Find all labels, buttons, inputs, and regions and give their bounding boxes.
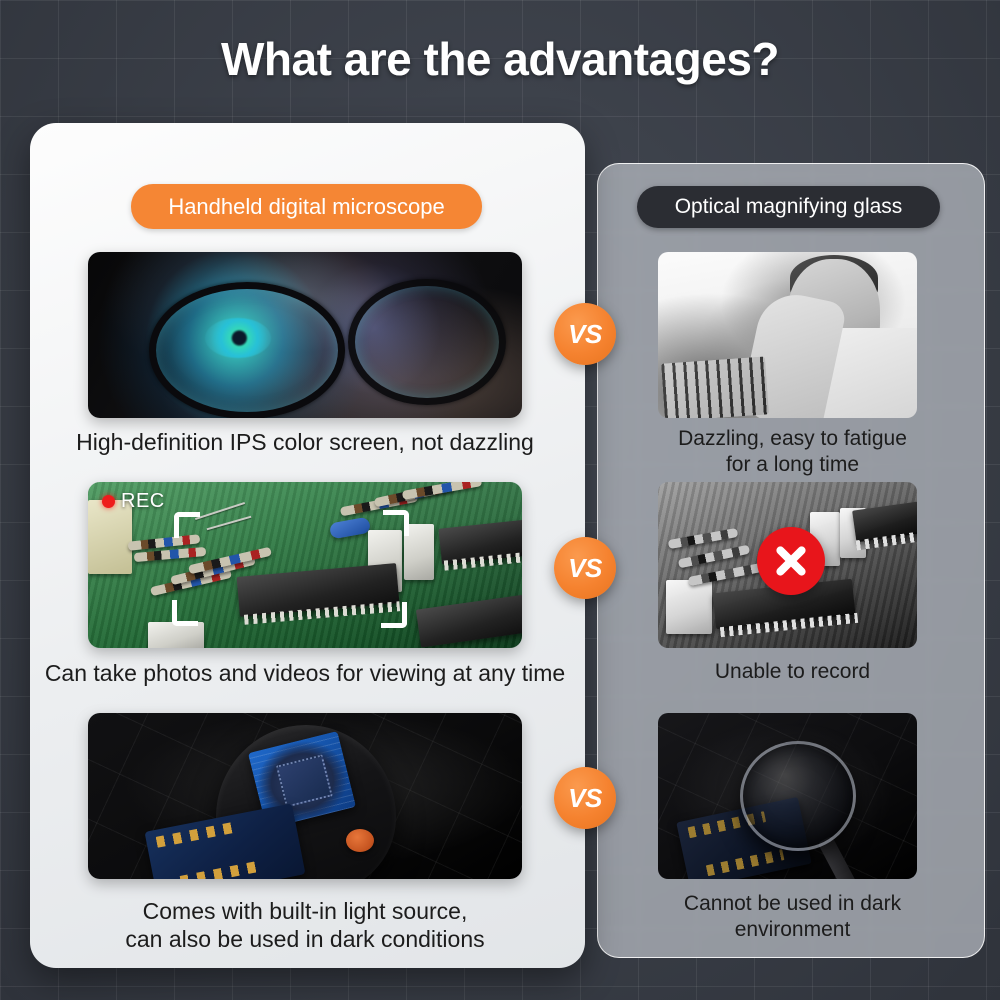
handheld-microscope-device-photo (88, 713, 522, 879)
green-circuit-board-photo: REC (88, 482, 522, 648)
image-pcb-recording: REC (88, 482, 522, 648)
caption-right-row1-line2: for a long time (600, 452, 985, 478)
caption-right-row3: Cannot be used in dark environment (600, 891, 985, 942)
record-dot-icon (102, 495, 115, 508)
caption-left-row3-line2: can also be used in dark conditions (10, 925, 600, 953)
vs-badge-row2-label: VS (568, 553, 602, 584)
infographic-page: What are the advantages? Handheld digita… (0, 0, 1000, 1000)
resistor (678, 545, 750, 569)
vs-badge-row3: VS (554, 767, 616, 829)
film-capacitor (666, 580, 712, 634)
gold-pads (156, 822, 235, 848)
vs-badge-row1: VS (554, 303, 616, 365)
focus-bracket-bottom-left (172, 600, 198, 626)
record-label: REC (121, 490, 165, 513)
gold-pads (706, 849, 785, 876)
page-title-text: What are the advantages? (0, 32, 1000, 86)
handheld-microscope-badge-label: Handheld digital microscope (168, 194, 444, 220)
handheld-microscope-badge: Handheld digital microscope (131, 184, 482, 229)
component-lead (207, 516, 252, 531)
resistor (134, 547, 207, 562)
vs-badge-row1-label: VS (568, 319, 602, 350)
caption-left-row2-line1: Can take photos and videos for viewing a… (10, 659, 600, 687)
component-lead (195, 502, 245, 520)
magnifier-lens (740, 741, 856, 851)
optical-magnifier-badge-label: Optical magnifying glass (675, 195, 903, 219)
magnifying-glass-dark-photo (658, 713, 917, 879)
vs-badge-row3-label: VS (568, 783, 602, 814)
optical-magnifier-badge: Optical magnifying glass (637, 186, 940, 228)
caption-left-row2: Can take photos and videos for viewing a… (10, 659, 600, 687)
caption-left-row3: Comes with built-in light source, can al… (10, 897, 600, 953)
dip-chip (416, 595, 522, 648)
image-eye-fatigue (658, 252, 917, 418)
recording-indicator: REC (102, 490, 165, 513)
image-built-in-light-source (88, 713, 522, 879)
caption-right-row3-line1: Cannot be used in dark (600, 891, 985, 917)
electronics-kit (661, 356, 769, 418)
resistor (688, 563, 762, 586)
caption-left-row1: High-definition IPS color screen, not da… (10, 428, 600, 456)
eye-reflection (205, 318, 271, 358)
caption-left-row1-line1: High-definition IPS color screen, not da… (10, 428, 600, 456)
caption-right-row3-line2: environment (600, 917, 985, 943)
image-magnifier-dark (658, 713, 917, 879)
page-title: What are the advantages? (0, 32, 1000, 86)
caption-right-row1: Dazzling, easy to fatigue for a long tim… (600, 426, 985, 477)
focus-bracket-bottom-right (381, 602, 407, 628)
resistor (402, 482, 482, 500)
microscope-power-button (346, 829, 374, 852)
vs-badge-row2: VS (554, 537, 616, 599)
focus-bracket-top-right (383, 510, 409, 536)
caption-right-row2: Unable to record (600, 659, 985, 685)
gold-pads (180, 861, 259, 879)
focus-bracket-top-left (174, 512, 200, 538)
caption-right-row2-line1: Unable to record (600, 659, 985, 685)
image-ips-color-screen (88, 252, 522, 418)
resistor (668, 528, 738, 549)
caption-right-row1-line1: Dazzling, easy to fatigue (600, 426, 985, 452)
blue-capacitor (329, 517, 371, 540)
fatigued-technician-photo (658, 252, 917, 418)
no-record-x-icon (757, 527, 825, 595)
caption-left-row3-line1: Comes with built-in light source, (10, 897, 600, 925)
glasses-screen-glare-photo (88, 252, 522, 418)
